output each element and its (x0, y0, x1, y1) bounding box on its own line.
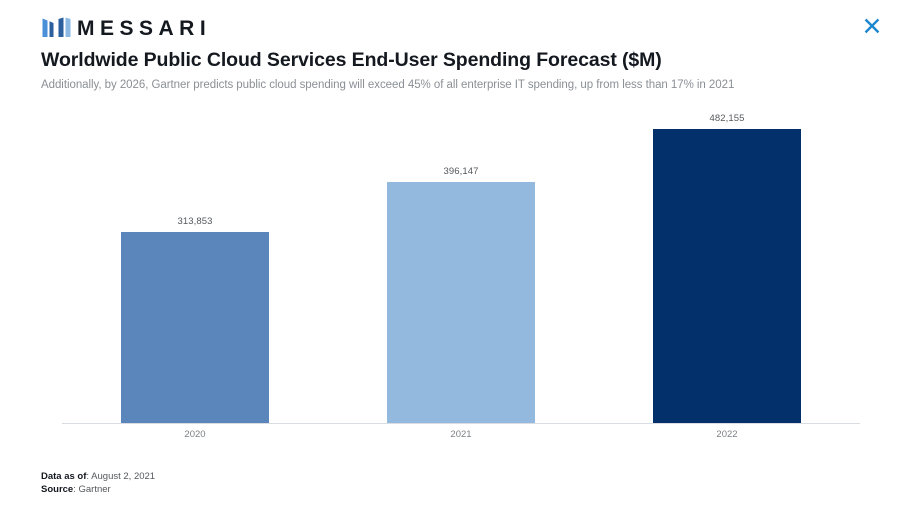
chart-header: MESSARI Worldwide Public Cloud Services … (41, 14, 851, 93)
bar-chart-plot: 313,853396,147482,155 (62, 100, 860, 424)
chart-footer: Data as of: August 2, 2021 Source: Gartn… (41, 471, 155, 497)
messari-m-logo-icon (41, 17, 71, 39)
chart-screenshot: MESSARI Worldwide Public Cloud Services … (0, 0, 901, 506)
bar-2022[interactable] (653, 129, 801, 424)
bar-value-label: 313,853 (121, 216, 269, 227)
footer-source-value: : Gartner (73, 484, 111, 495)
footer-data-as-of-value: : August 2, 2021 (86, 471, 155, 482)
x-axis-line (62, 423, 860, 424)
bar-value-label: 396,147 (387, 166, 535, 177)
bar-group[interactable]: 482,155 (653, 100, 801, 424)
brand-logo: MESSARI (41, 14, 851, 42)
x-tick-2020: 2020 (62, 429, 328, 440)
bar-2020[interactable] (121, 232, 269, 424)
bar-value-label: 482,155 (653, 113, 801, 124)
close-icon[interactable]: ✕ (859, 14, 885, 40)
footer-data-as-of: Data as of: August 2, 2021 (41, 471, 155, 484)
footer-source: Source: Gartner (41, 484, 155, 497)
chart-subtitle: Additionally, by 2026, Gartner predicts … (41, 79, 851, 93)
footer-source-label: Source (41, 484, 73, 495)
bar-group[interactable]: 396,147 (387, 100, 535, 424)
x-axis-tick-labels: 202020212022 (62, 429, 860, 445)
bar-group[interactable]: 313,853 (121, 100, 269, 424)
x-tick-2021: 2021 (328, 429, 594, 440)
bar-2021[interactable] (387, 182, 535, 424)
footer-data-as-of-label: Data as of (41, 471, 86, 482)
x-tick-2022: 2022 (594, 429, 860, 440)
brand-name: MESSARI (77, 18, 211, 39)
chart-title: Worldwide Public Cloud Services End-User… (41, 49, 851, 71)
